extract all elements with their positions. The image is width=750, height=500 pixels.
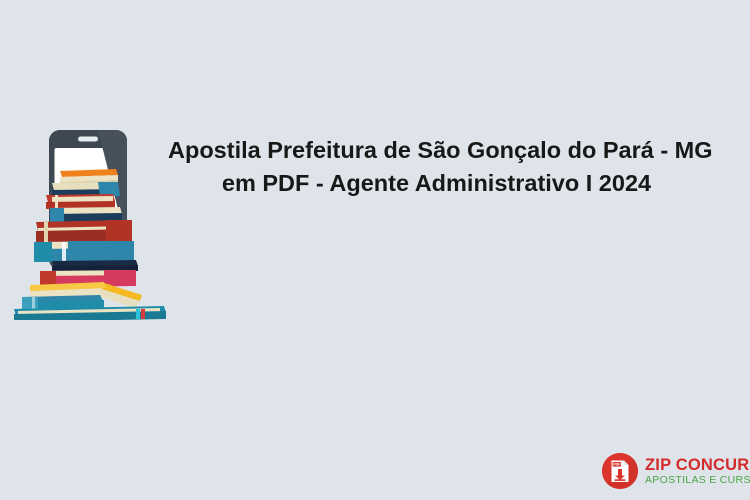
svg-text:PDF: PDF [613,463,621,467]
title-line-1: Apostila Prefeitura de São Gonçalo do Pa… [168,134,705,167]
books-and-smartphone-illustration [8,125,178,320]
product-banner: Apostila Prefeitura de São Gonçalo do Pa… [0,0,750,500]
book-red-1 [46,194,115,209]
brand-text-block: ZIP CONCURSOS APOSTILAS E CURSOS [645,457,750,486]
page-title: Apostila Prefeitura de São Gonçalo do Pa… [168,134,705,200]
book-maroon [36,220,132,243]
pdf-download-circle-icon: PDF [601,452,639,490]
book-teal-1 [34,241,134,262]
brand-logo[interactable]: PDF ZIP CONCURSOS APOSTILAS E CURSOS [601,450,733,492]
title-line-2: em PDF - Agente Administrativo I 2024 [168,167,705,200]
brand-tagline: APOSTILAS E CURSOS [645,475,750,486]
brand-name: ZIP CONCURSOS [645,457,750,474]
